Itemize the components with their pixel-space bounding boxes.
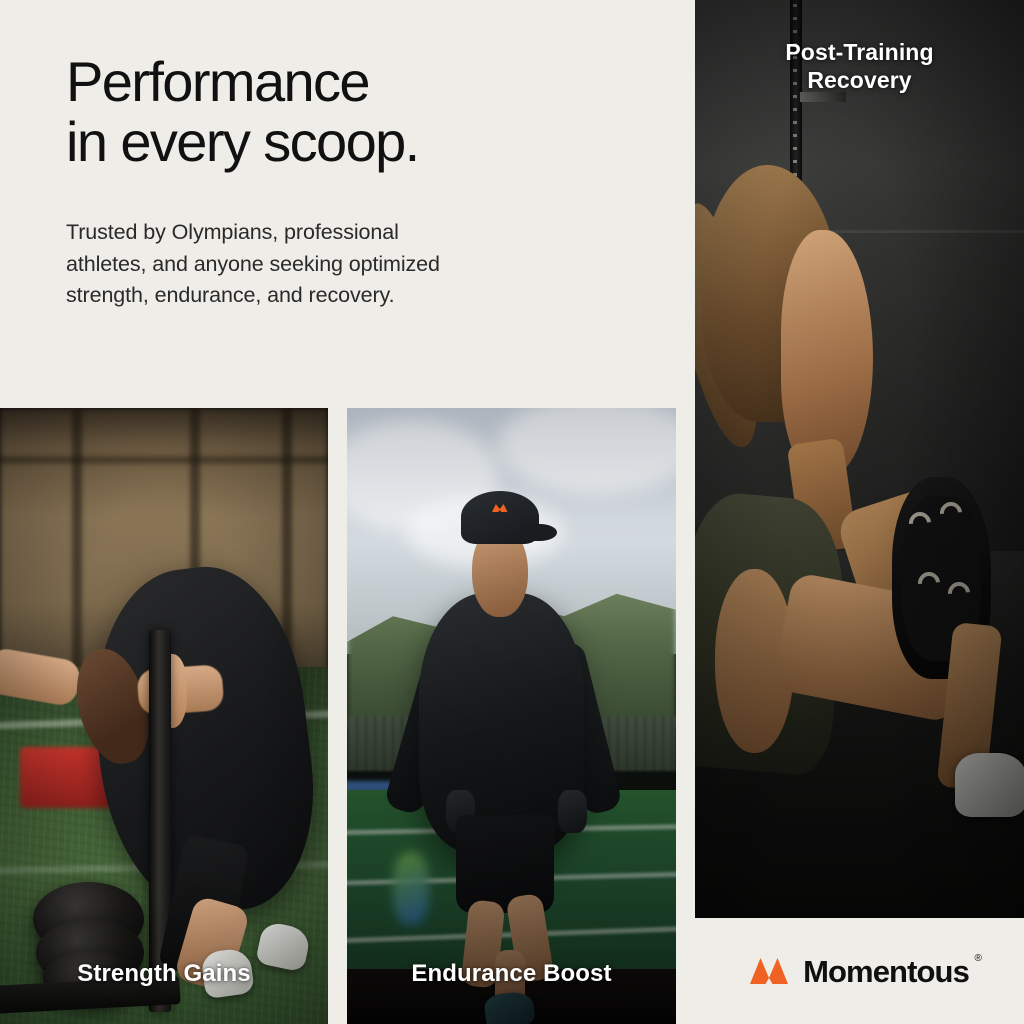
registered-trademark-icon: ® [974,954,980,964]
photo-caption-recovery: Post-Training Recovery [695,38,1024,94]
page-title: Performance in every scoop. [66,52,666,173]
momentous-mountain-icon [750,958,788,984]
legging-swirl-icon [944,577,975,608]
runner-cap [461,491,540,543]
advertisement-canvas: Performance in every scoop. Trusted by O… [0,0,1024,1024]
photo-caption-endurance: Endurance Boost [347,960,676,988]
brand-lockup[interactable]: Momentous ® [695,918,1024,1024]
recovery-photo [695,0,1024,918]
runner-photo [347,408,676,1024]
photo-panel-recovery[interactable]: Post-Training Recovery [695,0,1024,918]
sled-push-photo [0,408,328,1024]
brand-name: Momentous ® [803,956,969,987]
background-person-blur [393,852,429,926]
wall-post [72,408,82,679]
photo-panel-endurance[interactable]: Endurance Boost [347,408,676,1024]
legging-swirl-icon [936,498,967,529]
athlete-sneaker [955,753,1024,817]
legging-swirl-icon [914,567,945,598]
runner-glove [558,790,588,833]
subheadline-text: Trusted by Olympians, professional athle… [66,217,666,312]
copy-block: Performance in every scoop. Trusted by O… [66,52,666,312]
photo-caption-strength: Strength Gains [0,960,328,988]
photo-panel-strength[interactable]: Strength Gains [0,408,328,1024]
brand-name-text: Momentous [803,954,969,989]
